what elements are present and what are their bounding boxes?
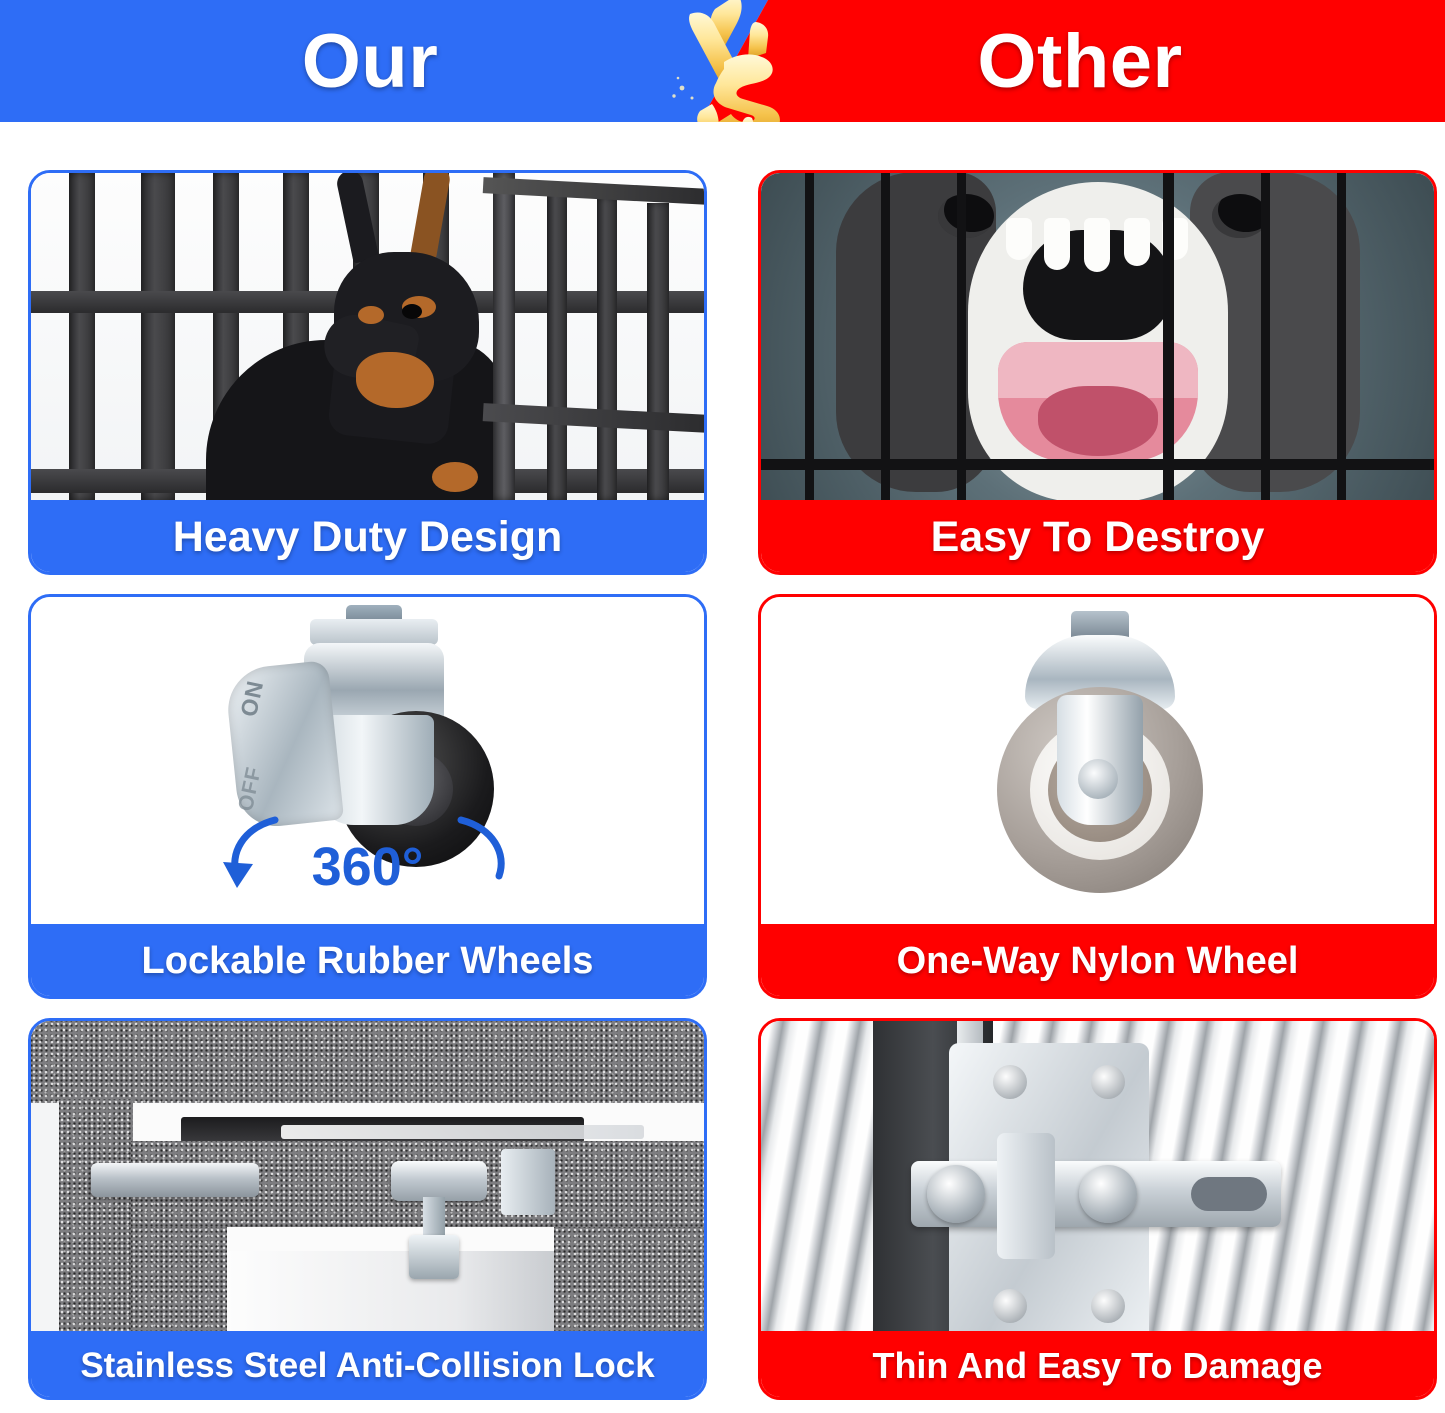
rotation-annotation: 360° bbox=[203, 814, 533, 906]
comparison-infographic: Our Other bbox=[0, 0, 1445, 1413]
header-our-label: Our bbox=[110, 0, 630, 122]
image-doberman-in-heavy-duty-crate bbox=[31, 173, 704, 500]
image-thin-chrome-slide-latch bbox=[761, 1021, 1434, 1331]
image-lockable-rubber-caster-wheel: ON OFF 360° bbox=[31, 597, 704, 924]
card-theirs-thin-latch[interactable]: Thin And Easy To Damage bbox=[758, 1018, 1437, 1400]
card-ours-heavy-duty[interactable]: Heavy Duty Design bbox=[28, 170, 707, 575]
rotation-degrees-label: 360° bbox=[312, 840, 424, 894]
vs-header-banner: Our Other bbox=[0, 0, 1445, 122]
card-theirs-nylon-wheel[interactable]: One-Way Nylon Wheel bbox=[758, 594, 1437, 999]
image-husky-biting-thin-wire-crate bbox=[761, 173, 1434, 500]
vs-flame-icon bbox=[652, 0, 802, 122]
comparison-grid: Heavy Duty Design bbox=[0, 122, 1445, 1413]
caption-ours-lockable-wheels: Lockable Rubber Wheels bbox=[28, 924, 707, 999]
caption-ours-anti-collision-lock: Stainless Steel Anti-Collision Lock bbox=[28, 1331, 707, 1400]
caption-theirs-nylon-wheel: One-Way Nylon Wheel bbox=[758, 924, 1437, 999]
image-nylon-swivel-caster-wheel bbox=[761, 597, 1434, 924]
header-other-label: Other bbox=[820, 0, 1340, 122]
card-theirs-easy-to-destroy[interactable]: Easy To Destroy bbox=[758, 170, 1437, 575]
caption-theirs-thin-latch: Thin And Easy To Damage bbox=[758, 1331, 1437, 1400]
nylon-wheel-graphic bbox=[953, 621, 1243, 901]
image-heavy-steel-slide-bolt-lock bbox=[31, 1021, 704, 1331]
card-ours-lockable-wheels[interactable]: ON OFF 360° bbox=[28, 594, 707, 999]
caption-theirs-easy-to-destroy: Easy To Destroy bbox=[758, 500, 1437, 575]
caption-ours-heavy-duty: Heavy Duty Design bbox=[28, 500, 707, 575]
card-ours-anti-collision-lock[interactable]: Stainless Steel Anti-Collision Lock bbox=[28, 1018, 707, 1400]
